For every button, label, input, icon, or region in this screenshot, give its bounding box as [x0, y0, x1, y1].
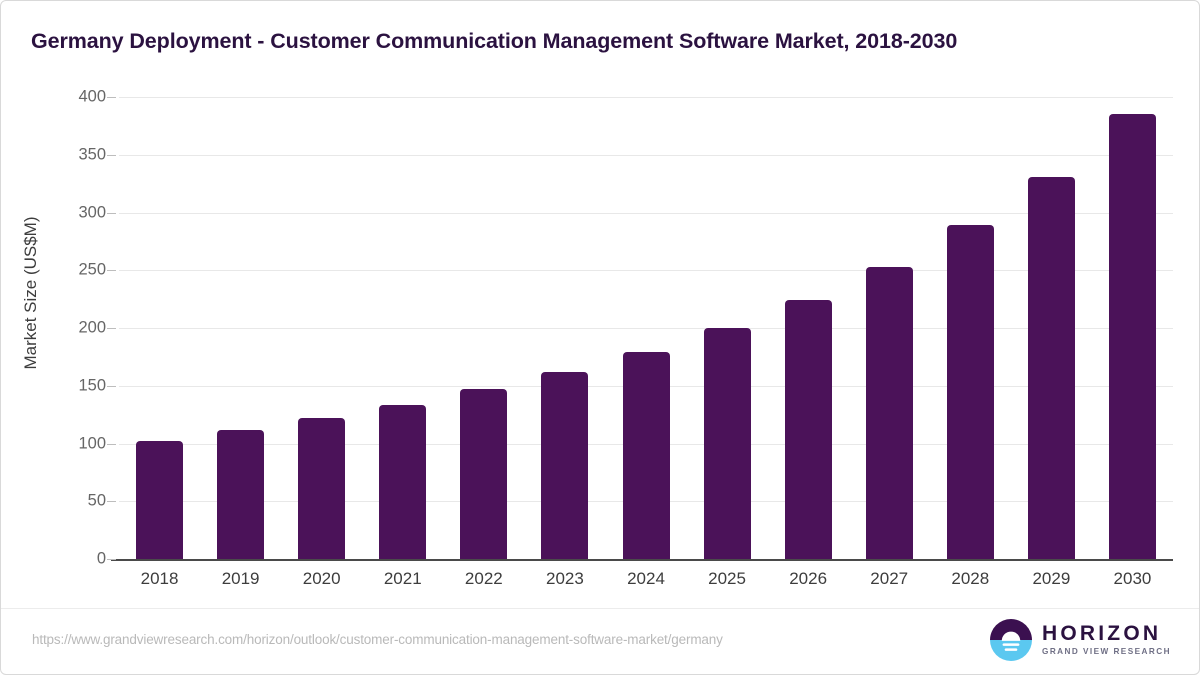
y-tick-mark — [107, 97, 116, 98]
gridline — [119, 328, 1173, 329]
y-tick-label: 100 — [46, 434, 106, 453]
bar[interactable] — [947, 225, 994, 559]
bar[interactable] — [541, 372, 588, 559]
y-tick-mark — [107, 501, 116, 502]
x-tick-label: 2018 — [119, 569, 200, 589]
y-tick-mark — [107, 328, 116, 329]
gridline — [119, 97, 1173, 98]
x-tick-label: 2027 — [849, 569, 930, 589]
logo-tagline: GRAND VIEW RESEARCH — [1042, 647, 1171, 657]
y-tick-label: 150 — [46, 376, 106, 395]
y-tick-mark — [107, 386, 116, 387]
gridline — [119, 155, 1173, 156]
logo-wordmark: HORIZON — [1042, 623, 1171, 645]
bar[interactable] — [1028, 177, 1075, 559]
page-title: Germany Deployment - Customer Communicat… — [31, 29, 1171, 54]
gridline — [119, 213, 1173, 214]
bar[interactable] — [1109, 114, 1156, 559]
bar[interactable] — [623, 352, 670, 559]
y-tick-label: 200 — [46, 319, 106, 338]
chart-card: Germany Deployment - Customer Communicat… — [0, 0, 1200, 675]
logo-text: HORIZON GRAND VIEW RESEARCH — [1042, 623, 1171, 657]
y-tick-mark — [107, 559, 116, 560]
x-tick-label: 2029 — [1011, 569, 1092, 589]
y-tick-mark — [107, 213, 116, 214]
bar[interactable] — [298, 418, 345, 559]
x-tick-label: 2022 — [443, 569, 524, 589]
bar[interactable] — [704, 328, 751, 559]
x-tick-label: 2024 — [606, 569, 687, 589]
x-tick-label: 2028 — [930, 569, 1011, 589]
x-tick-label: 2026 — [768, 569, 849, 589]
x-tick-label: 2025 — [687, 569, 768, 589]
y-tick-mark — [107, 444, 116, 445]
x-tick-label: 2019 — [200, 569, 281, 589]
horizon-sun-icon — [990, 619, 1032, 661]
bar[interactable] — [136, 441, 183, 559]
bar[interactable] — [217, 430, 264, 559]
gridline — [119, 270, 1173, 271]
y-tick-label: 50 — [46, 492, 106, 511]
plot-area — [119, 97, 1173, 559]
footer-divider — [1, 608, 1200, 609]
x-tick-label: 2023 — [524, 569, 605, 589]
y-tick-mark — [107, 155, 116, 156]
y-tick-label: 400 — [46, 88, 106, 107]
bar[interactable] — [460, 389, 507, 559]
x-tick-label: 2020 — [281, 569, 362, 589]
bar[interactable] — [866, 267, 913, 559]
y-tick-label: 250 — [46, 261, 106, 280]
bar[interactable] — [379, 405, 426, 559]
x-tick-label: 2030 — [1092, 569, 1173, 589]
x-tick-label: 2021 — [362, 569, 443, 589]
y-tick-label: 300 — [46, 203, 106, 222]
y-tick-mark — [107, 270, 116, 271]
horizon-logo: HORIZON GRAND VIEW RESEARCH — [990, 618, 1171, 662]
bar[interactable] — [785, 300, 832, 559]
y-tick-label: 350 — [46, 145, 106, 164]
y-axis-ticks: 050100150200250300350400 — [36, 97, 106, 559]
y-tick-label: 0 — [46, 550, 106, 569]
x-axis-line — [111, 559, 1173, 561]
source-url[interactable]: https://www.grandviewresearch.com/horizo… — [32, 632, 723, 647]
